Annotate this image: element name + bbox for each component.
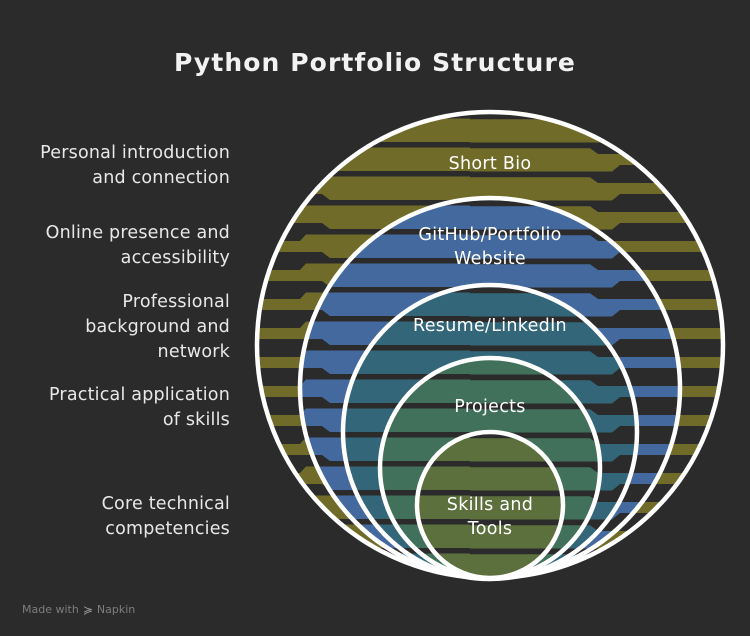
diagram-canvas: Python Portfolio Structure: [0, 0, 750, 636]
watermark-brand: Napkin: [97, 603, 135, 616]
side-label-skills-and-tools-line2: competencies: [0, 517, 230, 542]
side-label-github-portfolio-website: Online presence and accessibility: [0, 221, 230, 271]
side-label-short-bio-line1: Personal introduction: [0, 141, 230, 166]
side-label-github-portfolio-website-line2: accessibility: [0, 246, 230, 271]
side-label-skills-and-tools-line1: Core technical: [0, 492, 230, 517]
side-label-skills-and-tools: Core technical competencies: [0, 492, 230, 542]
side-label-projects: Practical application of skills: [0, 383, 230, 433]
side-label-short-bio-line2: and connection: [0, 166, 230, 191]
side-label-short-bio: Personal introduction and connection: [0, 141, 230, 191]
side-label-github-portfolio-website-line1: Online presence and: [0, 221, 230, 246]
side-label-projects-line1: Practical application: [0, 383, 230, 408]
side-label-projects-line2: of skills: [0, 408, 230, 433]
side-label-resume-linkedin-line3: network: [0, 340, 230, 365]
side-label-resume-linkedin: Professional background and network: [0, 290, 230, 365]
watermark-prefix: Made with: [22, 603, 79, 616]
napkin-logo-icon: ≽: [83, 604, 93, 616]
side-label-resume-linkedin-line1: Professional: [0, 290, 230, 315]
side-label-resume-linkedin-line2: background and: [0, 315, 230, 340]
napkin-watermark: Made with ≽ Napkin: [22, 603, 135, 616]
